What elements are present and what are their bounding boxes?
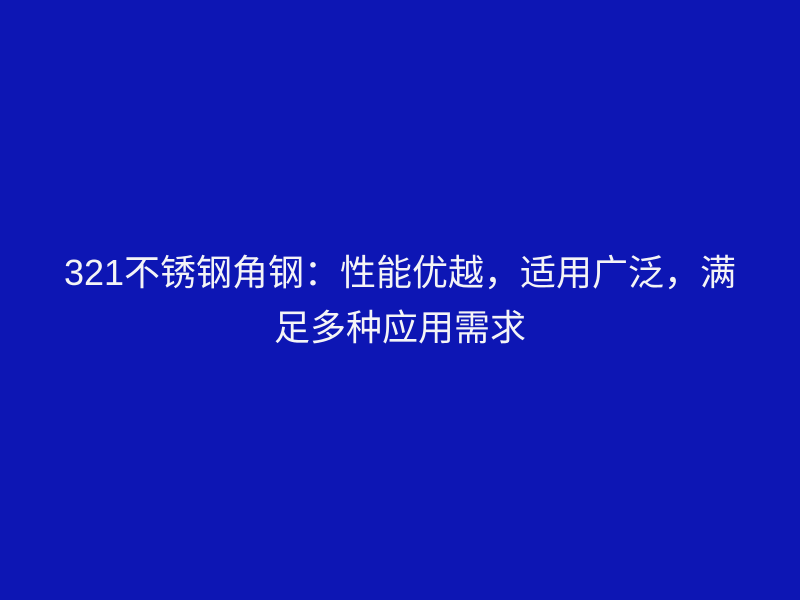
headline-container: 321不锈钢角钢：性能优越，适用广泛，满足多种应用需求 bbox=[0, 245, 800, 355]
banner-headline: 321不锈钢角钢：性能优越，适用广泛，满足多种应用需求 bbox=[58, 245, 742, 355]
banner-canvas: 321不锈钢角钢：性能优越，适用广泛，满足多种应用需求 bbox=[0, 0, 800, 600]
